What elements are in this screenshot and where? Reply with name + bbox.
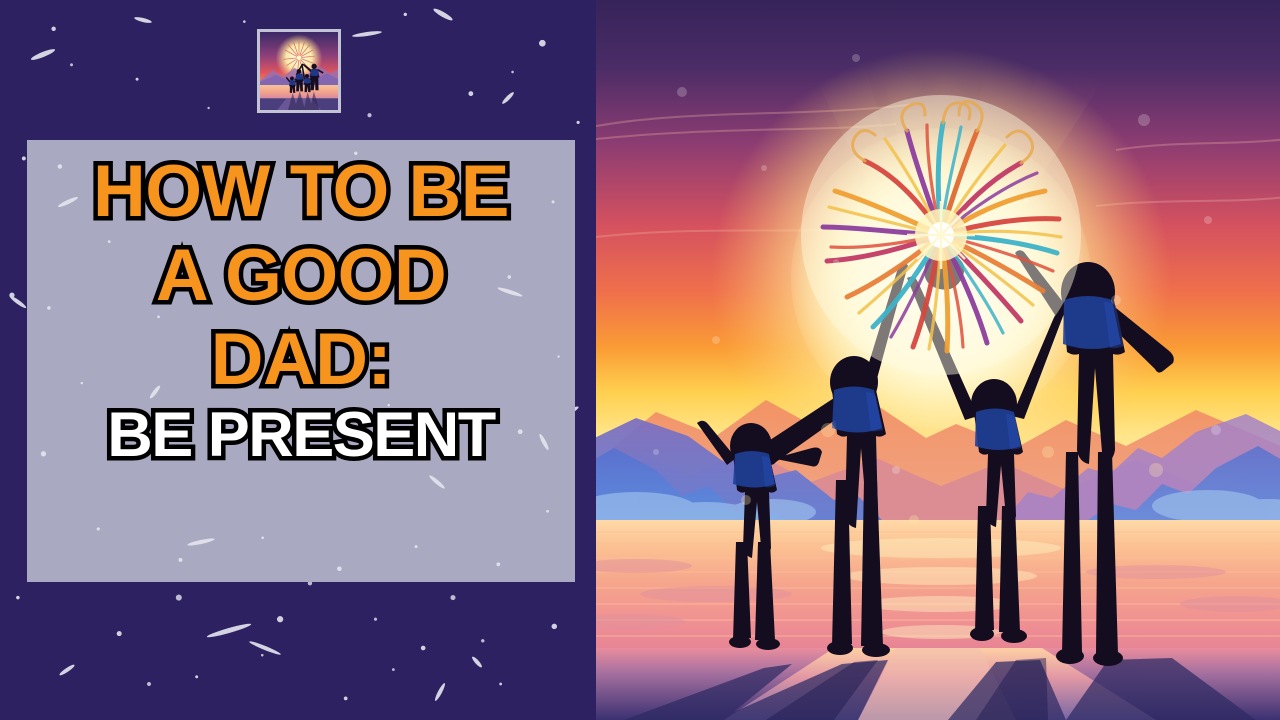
splatter-streak [248,640,281,656]
splatter-streak [352,30,382,38]
card-splatter-streak [148,384,161,399]
splatter-streak [501,91,515,105]
left-panel: HOW TO BE A GOOD DAD: BE PRESENT [0,0,596,720]
splatter-streak [434,682,447,702]
thumbnail-canvas: HOW TO BE A GOOD DAD: BE PRESENT [0,0,1280,720]
splatter-streak [134,16,152,24]
logo-artwork [260,32,338,110]
card-splatter-streak [187,537,215,547]
splatter-streak [471,655,483,668]
card-splatter-streak [428,474,446,490]
card-splatter-streak [57,196,79,209]
firework-burst [801,95,1081,375]
headline-line-1: HOW TO BE [93,158,509,225]
splatter-streak [58,663,75,676]
splatter-streak [206,622,252,639]
splatter-streak [9,295,28,310]
channel-logo[interactable] [257,29,341,113]
card-splatter-streak [538,433,550,451]
splatter-streak [432,7,454,22]
headline-card: HOW TO BE A GOOD DAD: BE PRESENT [27,140,575,582]
headline-line-4: BE PRESENT [107,407,495,465]
card-splatter-streak [497,286,523,298]
splatter-streak [30,47,56,61]
headline-line-2: A GOOD [156,242,446,309]
headline-line-3: DAD: [211,326,391,393]
family-sunset-artwork [596,0,1280,720]
